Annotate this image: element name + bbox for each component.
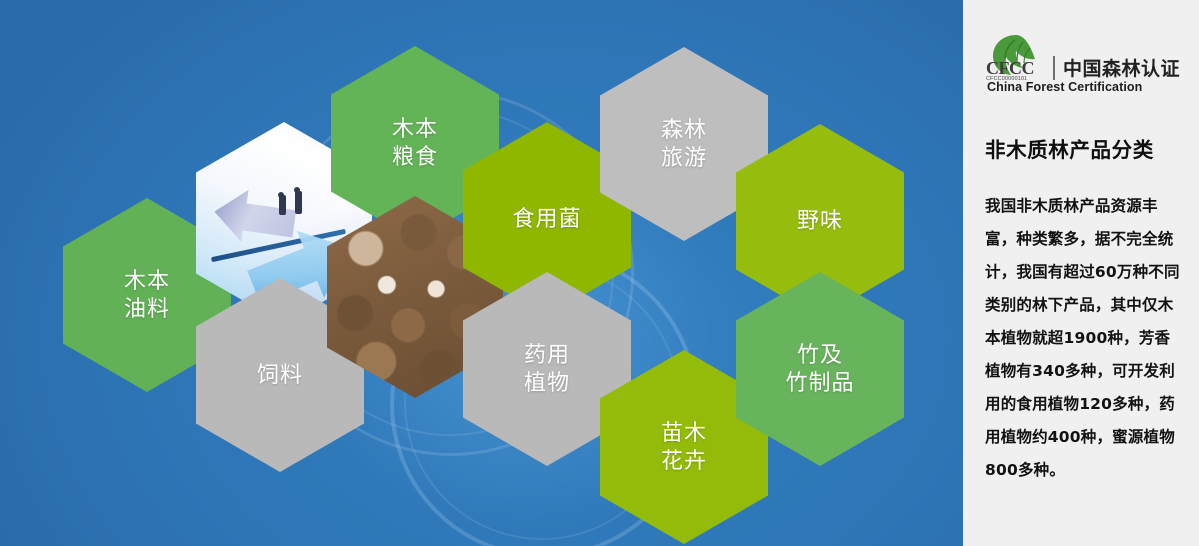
cfcc-logo: CFCC CFCC00000101 中国森林认证 China Forest Ce… (985, 32, 1185, 94)
cfcc-english-name: China Forest Certification (987, 80, 1142, 94)
hexagon-forest-tourism-label: 森林 旅游 (661, 116, 707, 171)
hexagon-game-meat-label: 野味 (797, 207, 843, 235)
hexagon-bamboo-products-label: 竹及 竹制品 (785, 341, 854, 396)
hexagon-diagram-stage: 木本 油料 饲料 木本 粮食 食用菌 药用 植物 森林 旅游 (0, 0, 963, 546)
hexagon-seedlings-flowers-label: 苗木 花卉 (661, 419, 707, 474)
slide-root: 木本 油料 饲料 木本 粮食 食用菌 药用 植物 森林 旅游 (0, 0, 1199, 546)
logo-divider (1053, 56, 1055, 80)
page-title: 非木质林产品分类 (985, 133, 1190, 163)
business-figures-icon (277, 189, 323, 237)
hexagon-woody-oil-label: 木本 油料 (124, 267, 170, 322)
info-panel: CFCC CFCC00000101 中国森林认证 China Forest Ce… (963, 0, 1199, 546)
hexagon-woody-grain-label: 木本 粮食 (392, 115, 438, 170)
panel-body-text: 我国非木质林产品资源丰富，种类繁多，据不完全统计，我国有超过60万种不同类别的林… (985, 190, 1183, 487)
hexagon-edible-fungi-label: 食用菌 (512, 205, 581, 233)
cfcc-chinese-name: 中国森林认证 (1063, 54, 1180, 81)
hexagon-fodder-label: 饲料 (257, 361, 303, 389)
hexagon-medicinal-plants-label: 药用 植物 (524, 341, 570, 396)
